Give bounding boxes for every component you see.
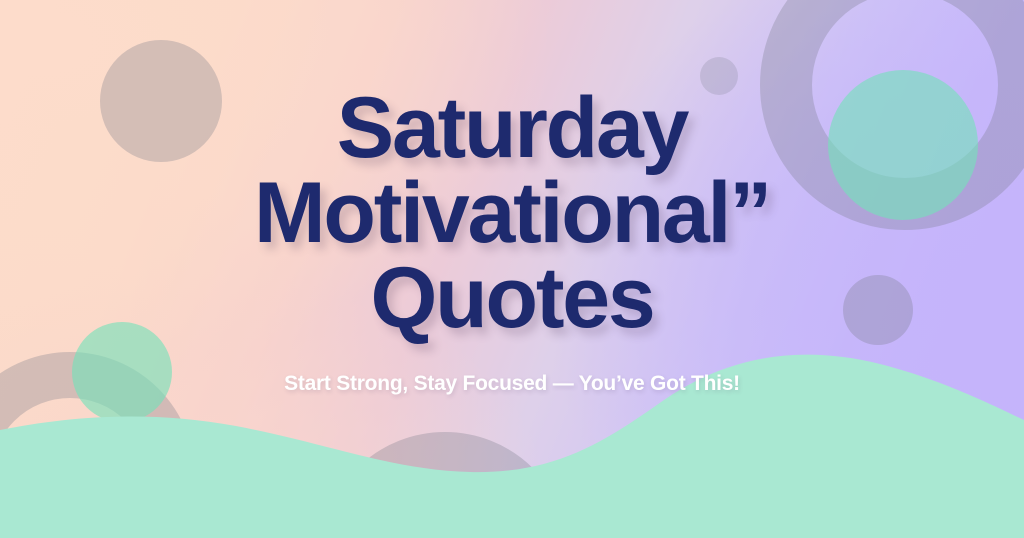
- page-title: Saturday Motivational” Quotes: [254, 86, 770, 341]
- page-subtitle: Start Strong, Stay Focused — You’ve Got …: [284, 341, 740, 396]
- headline-line-3: Quotes: [254, 256, 770, 341]
- headline-line-2: Motivational”: [254, 171, 770, 256]
- banner-content: Saturday Motivational” Quotes Start Stro…: [0, 0, 1024, 538]
- headline-line-1: Saturday: [254, 86, 770, 171]
- motivational-quotes-banner: Saturday Motivational” Quotes Start Stro…: [0, 0, 1024, 538]
